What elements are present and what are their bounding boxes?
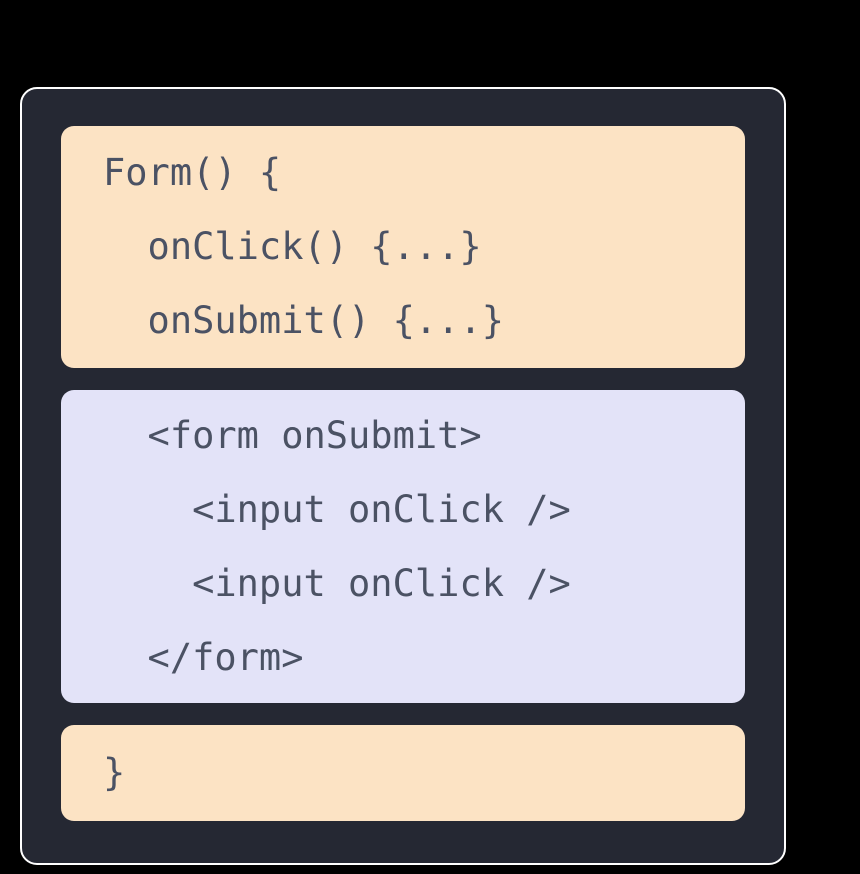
- code-line: <form onSubmit>: [61, 399, 745, 473]
- code-panel-signature: Form() { onClick() {...} onSubmit() {...…: [61, 126, 745, 368]
- code-line: <input onClick />: [61, 473, 745, 547]
- code-line: }: [61, 736, 745, 810]
- code-line: onSubmit() {...}: [61, 284, 745, 358]
- code-panel-markup: <form onSubmit> <input onClick /> <input…: [61, 390, 745, 703]
- code-card: Form() { onClick() {...} onSubmit() {...…: [20, 87, 786, 865]
- code-line: onClick() {...}: [61, 210, 745, 284]
- code-line: </form>: [61, 621, 745, 695]
- code-panel-closing: }: [61, 725, 745, 821]
- code-line: Form() {: [61, 136, 745, 210]
- screenshot-canvas: Form() { onClick() {...} onSubmit() {...…: [0, 0, 860, 874]
- code-line: <input onClick />: [61, 547, 745, 621]
